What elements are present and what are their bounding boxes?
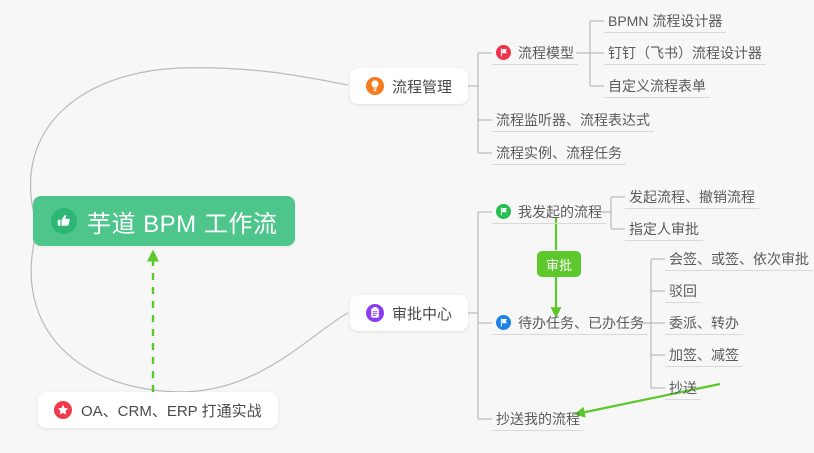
- root-node-label: 芋道 BPM 工作流: [87, 204, 277, 239]
- integration-note-card[interactable]: OA、CRM、ERP 打通实战: [38, 392, 278, 428]
- connector-root-to-approval-center: [31, 234, 348, 392]
- node-listener-expression[interactable]: 流程监听器、流程表达式: [492, 108, 654, 132]
- node-delegate-transfer[interactable]: 委派、转办: [665, 311, 743, 335]
- node-countersign[interactable]: 会签、或签、依次审批: [665, 247, 813, 271]
- node-label: 流程监听器、流程表达式: [496, 113, 650, 127]
- node-instance-task[interactable]: 流程实例、流程任务: [492, 141, 626, 165]
- node-process-model[interactable]: 流程模型: [492, 41, 578, 65]
- branch-node-label: 流程管理: [392, 76, 452, 97]
- node-cc-to-me[interactable]: 抄送我的流程: [492, 407, 584, 431]
- node-add-remove-sign[interactable]: 加签、减签: [665, 343, 743, 367]
- node-label: 钉钉（飞书）流程设计器: [608, 46, 762, 60]
- flag-icon: [496, 45, 511, 60]
- star-icon: [54, 401, 72, 419]
- node-label: 我发起的流程: [518, 205, 602, 219]
- node-label: 抄送: [669, 381, 697, 395]
- branch-node-approval-center[interactable]: 审批中心: [350, 295, 468, 331]
- root-node[interactable]: 芋道 BPM 工作流: [33, 196, 295, 246]
- node-start-cancel-process[interactable]: 发起流程、撤销流程: [625, 185, 759, 209]
- node-label: 发起流程、撤销流程: [629, 190, 755, 204]
- node-label: 流程模型: [518, 46, 574, 60]
- integration-note-label: OA、CRM、ERP 打通实战: [81, 400, 262, 421]
- flag-icon: [496, 204, 511, 219]
- node-custom-process-form[interactable]: 自定义流程表单: [604, 74, 710, 98]
- node-label: 自定义流程表单: [608, 79, 706, 93]
- branch-node-process-management[interactable]: 流程管理: [350, 68, 468, 104]
- node-todo-done-tasks[interactable]: 待办任务、已办任务: [492, 311, 648, 335]
- node-label: 加签、减签: [669, 348, 739, 362]
- mindmap-canvas: 芋道 BPM 工作流 流程管理 流程模型 BPMN 流程设计器 钉钉（飞书）流程…: [0, 0, 814, 453]
- node-reject[interactable]: 驳回: [665, 279, 701, 303]
- flag-icon: [496, 315, 511, 330]
- node-label: 委派、转办: [669, 316, 739, 330]
- approval-badge: 审批: [537, 251, 581, 277]
- node-label: 待办任务、已办任务: [518, 316, 644, 330]
- branch-node-label: 审批中心: [392, 303, 452, 324]
- node-label: 会签、或签、依次审批: [669, 252, 809, 266]
- node-dingtalk-feishu-designer[interactable]: 钉钉（飞书）流程设计器: [604, 41, 766, 65]
- clipboard-icon: [366, 304, 384, 322]
- thumbs-up-icon: [51, 208, 77, 234]
- node-cc[interactable]: 抄送: [665, 376, 701, 400]
- node-label: 抄送我的流程: [496, 412, 580, 426]
- node-label: 驳回: [669, 284, 697, 298]
- node-bpmn-designer[interactable]: BPMN 流程设计器: [604, 9, 726, 33]
- approval-badge-label: 审批: [546, 255, 572, 274]
- lightbulb-icon: [366, 77, 384, 95]
- node-label: 流程实例、流程任务: [496, 146, 622, 160]
- node-designated-approver[interactable]: 指定人审批: [625, 217, 703, 241]
- node-label: 指定人审批: [629, 222, 699, 236]
- node-label: BPMN 流程设计器: [608, 14, 722, 28]
- node-my-initiated-processes[interactable]: 我发起的流程: [492, 200, 606, 224]
